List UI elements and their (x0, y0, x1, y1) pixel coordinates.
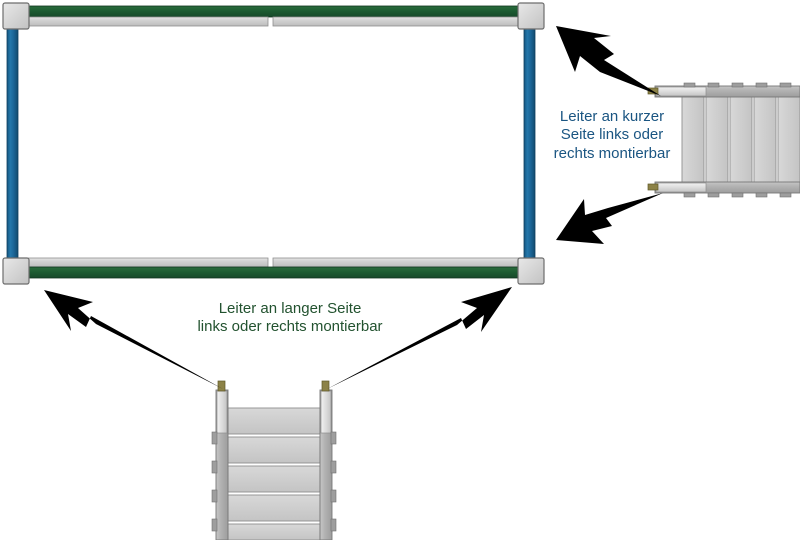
ladder-h-tip-bottom (648, 184, 658, 190)
ladder-h-rail-bottom (648, 182, 800, 197)
frame-left-rail (7, 20, 18, 268)
arrow-short-side-upper (556, 26, 661, 96)
label-long-side: Leiter an langer Seite links oder rechts… (150, 300, 430, 337)
ladder-h-rungs (682, 94, 800, 184)
corner-block-top-right (518, 3, 544, 29)
ladder-vertical-bottom (212, 381, 336, 540)
label-short-side: Leiter an kurzer Seite links oder rechts… (528, 108, 696, 163)
rectangular-frame (3, 3, 544, 284)
ladder-v-rail-right (320, 381, 336, 540)
frame-bottom-rail (12, 258, 540, 278)
corner-block-top-left (3, 3, 29, 29)
ladder-h-rail-top (648, 83, 800, 97)
ladder-v-rungs (228, 408, 320, 540)
ladder-v-rail-left (212, 381, 228, 540)
corner-block-bottom-left (3, 258, 29, 284)
ladder-v-tip-left (218, 381, 225, 391)
corner-block-bottom-right (518, 258, 544, 284)
ladder-v-tip-right (322, 381, 329, 391)
diagram-canvas: Leiter an kurzer Seite links oder rechts… (0, 0, 800, 540)
arrow-short-side-lower (556, 193, 663, 244)
frame-corner-blocks (3, 3, 544, 284)
frame-top-rail (12, 6, 540, 26)
diagram-svg (0, 0, 800, 540)
